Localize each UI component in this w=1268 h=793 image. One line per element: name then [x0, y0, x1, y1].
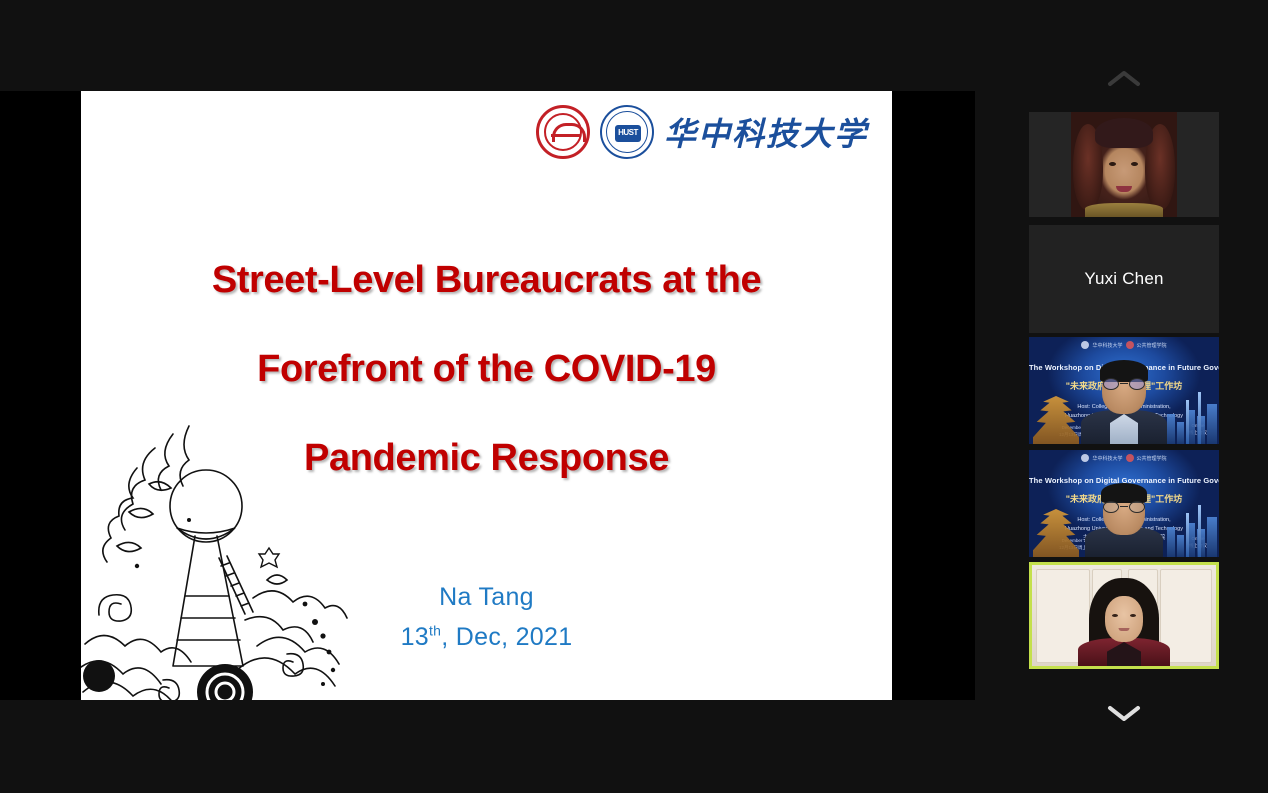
participant-tile-active-speaker[interactable]	[1029, 562, 1219, 669]
presentation-slide[interactable]: HUST 华中科技大学 Street-Level Bureaucrats at …	[81, 91, 892, 700]
college-seal-icon	[536, 105, 590, 159]
slide-title: Street-Level Bureaucrats at the Forefron…	[81, 236, 892, 503]
participant-tile-video-2[interactable]: 华中科技大学 公共管理学院 The Workshop on Digital Go…	[1029, 450, 1219, 557]
screen-share-region[interactable]: HUST 华中科技大学 Street-Level Bureaucrats at …	[0, 91, 975, 700]
filmstrip-scroll-up-button[interactable]	[1029, 58, 1219, 98]
participant-name-label: Yuxi Chen	[1029, 225, 1219, 333]
participant-tile-yuxi-chen[interactable]: Yuxi Chen	[1029, 225, 1219, 333]
video-conference-window: HUST 华中科技大学 Street-Level Bureaucrats at …	[0, 0, 1268, 793]
slide-title-line-3: Pandemic Response	[81, 414, 892, 503]
vbg-college-text: 公共管理学院	[1137, 455, 1167, 462]
vbg-university-text: 华中科技大学	[1092, 455, 1122, 462]
slide-title-line-1: Street-Level Bureaucrats at the	[81, 236, 892, 325]
vbg-university-text: 华中科技大学	[1092, 342, 1122, 349]
chevron-down-icon	[1107, 705, 1141, 722]
virtual-background-logos: 华中科技大学 公共管理学院	[1029, 454, 1219, 462]
university-name-calligraphy: 华中科技大学	[664, 109, 868, 155]
city-skyline-icon	[1157, 501, 1219, 557]
presentation-date-rest: , Dec, 2021	[441, 623, 572, 651]
participant-filmstrip[interactable]: Yuxi Chen 华中科技大学 公共管理学院 The Workshop on …	[1029, 0, 1219, 793]
slide-logo-row: HUST 华中科技大学	[536, 105, 868, 159]
presentation-date: 13th, Dec, 2021	[81, 617, 892, 657]
slide-title-line-2: Forefront of the COVID-19	[81, 325, 892, 414]
chevron-up-icon	[1107, 70, 1141, 87]
participant-video-home-office	[1032, 565, 1216, 666]
university-seal-label: HUST	[616, 128, 640, 137]
filmstrip-scroll-down-button[interactable]	[1029, 693, 1219, 733]
virtual-background-logos: 华中科技大学 公共管理学院	[1029, 341, 1219, 349]
virtual-background: 华中科技大学 公共管理学院 The Workshop on Digital Go…	[1029, 450, 1219, 557]
participant-tile-avatar[interactable]	[1029, 112, 1219, 217]
slide-presenter-block: Na Tang 13th, Dec, 2021	[81, 577, 892, 657]
university-seal-icon: HUST	[600, 105, 654, 159]
vbg-college-text: 公共管理学院	[1137, 342, 1167, 349]
presentation-date-ordinal: th	[429, 623, 441, 639]
avatar	[1071, 112, 1177, 217]
presentation-date-day: 13	[401, 623, 429, 651]
virtual-background: 华中科技大学 公共管理学院 The Workshop on Digital Go…	[1029, 337, 1219, 444]
presenter-name: Na Tang	[81, 577, 892, 617]
participant-tile-video-1[interactable]: 华中科技大学 公共管理学院 The Workshop on Digital Go…	[1029, 337, 1219, 444]
speaker-face	[1105, 596, 1143, 642]
